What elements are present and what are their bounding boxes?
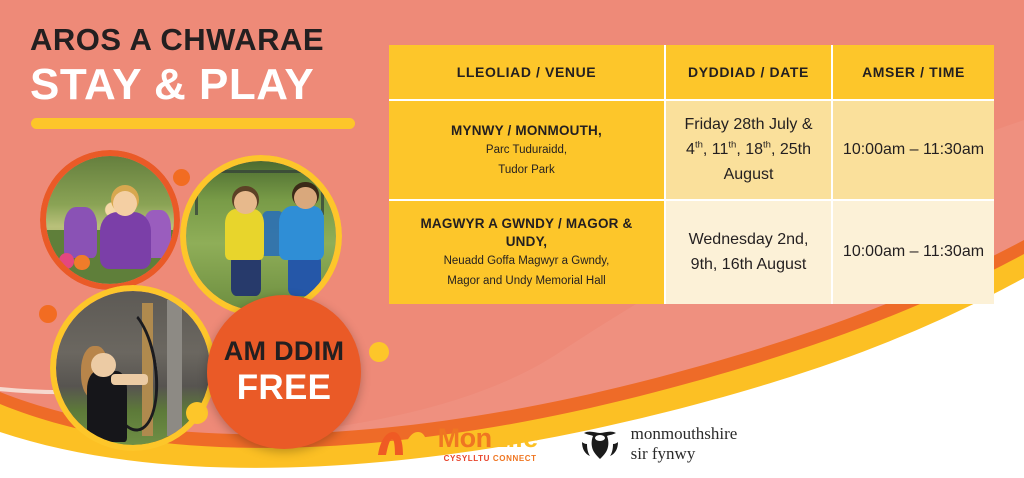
- free-badge-welsh: AM DDIM: [224, 337, 345, 367]
- monmouthshire-wordmark: monmouthshire sir fynwy: [631, 424, 738, 464]
- venue-address-line-1: Neuadd Goffa Magwyr a Gwndy,: [403, 253, 650, 270]
- monlife-tagline-welsh: CYSYLLTU: [444, 454, 493, 463]
- headline-english: STAY & PLAY: [30, 60, 370, 109]
- table-row: MYNWY / MONMOUTH, Parc Tuduraidd, Tudor …: [389, 101, 994, 201]
- monlife-tagline-english: CONNECT: [493, 454, 537, 463]
- decorative-dot: [186, 402, 208, 424]
- poster-canvas: AROS A CHWARAE STAY & PLAY: [0, 0, 1024, 478]
- cell-venue: MYNWY / MONMOUTH, Parc Tuduraidd, Tudor …: [389, 101, 666, 201]
- cell-venue: MAGWYR A GWNDY / MAGOR & UNDY, Neuadd Go…: [389, 201, 666, 303]
- date-line-2: 4th, 11th, 18th, 25th: [686, 141, 811, 158]
- venue-address-line-2: Magor and Undy Memorial Hall: [403, 273, 650, 290]
- monlife-tagline: CYSYLLTU CONNECT: [438, 455, 538, 463]
- photo-prop: [59, 253, 74, 268]
- date-line-3: August: [724, 166, 774, 183]
- schedule-table-head: LLEOLIAD / VENUE DYDDIAD / DATE AMSER / …: [389, 45, 994, 101]
- schedule-table: LLEOLIAD / VENUE DYDDIAD / DATE AMSER / …: [389, 45, 994, 304]
- cell-time: 10:00am – 11:30am: [833, 201, 994, 303]
- decorative-dot: [39, 305, 57, 323]
- free-badge-english: FREE: [237, 369, 332, 407]
- photo-figure: [288, 254, 321, 296]
- column-header-date: DYDDIAD / DATE: [666, 45, 833, 101]
- date-line-2: 9th, 16th August: [691, 256, 807, 273]
- photo-prop: [167, 300, 182, 436]
- photo-figure: [100, 212, 151, 268]
- decorative-dot: [369, 342, 389, 362]
- photo-figure: [113, 191, 137, 217]
- monmouthshire-logo: monmouthshire sir fynwy: [578, 424, 738, 464]
- decorative-dot: [173, 169, 190, 186]
- headline-block: AROS A CHWARAE STAY & PLAY: [30, 22, 370, 109]
- photo-figure: [234, 191, 257, 214]
- monlife-logo: MonLife CYSYLLTU CONNECT: [377, 425, 538, 463]
- column-header-time: AMSER / TIME: [833, 45, 994, 101]
- photo-football-game: [180, 155, 342, 317]
- venue-address-line-2: Tudor Park: [403, 162, 650, 179]
- photo-figure: [111, 374, 148, 385]
- monlife-life: Life: [492, 423, 538, 453]
- headline-welsh: AROS A CHWARAE: [30, 22, 370, 58]
- photo-figure: [64, 207, 97, 258]
- monlife-mark-icon: [377, 429, 429, 459]
- photo-archery-image: [56, 291, 210, 445]
- date-line-1: Wednesday 2nd,: [689, 231, 809, 248]
- photo-football-game-image: [186, 161, 336, 311]
- venue-address-line-1: Parc Tuduraidd,: [403, 142, 650, 159]
- monlife-wordmark: MonLife CYSYLLTU CONNECT: [438, 425, 538, 463]
- cell-date: Friday 28th July & 4th, 11th, 18th, 25th…: [666, 101, 833, 201]
- cell-time: 10:00am – 11:30am: [833, 101, 994, 201]
- photo-figure: [294, 187, 317, 210]
- column-header-venue: LLEOLIAD / VENUE: [389, 45, 666, 101]
- photo-figure: [225, 209, 264, 260]
- monmouthshire-line-2: sir fynwy: [631, 444, 738, 464]
- venue-title: MYNWY / MONMOUTH,: [403, 122, 650, 140]
- headline-rule: [31, 118, 355, 129]
- monlife-mon: Mon: [438, 423, 492, 453]
- photo-figure: [231, 254, 261, 296]
- monmouthshire-line-1: monmouthshire: [631, 424, 738, 444]
- bull-head-icon: [578, 426, 622, 462]
- table-row: MAGWYR A GWNDY / MAGOR & UNDY, Neuadd Go…: [389, 201, 994, 303]
- cell-date: Wednesday 2nd, 9th, 16th August: [666, 201, 833, 303]
- schedule-table-body: MYNWY / MONMOUTH, Parc Tuduraidd, Tudor …: [389, 101, 994, 304]
- photo-prop: [74, 255, 89, 270]
- footer-logos: MonLife CYSYLLTU CONNECT monmouthshire s…: [0, 424, 1024, 464]
- photo-children-playing: [40, 150, 180, 290]
- monlife-name: MonLife: [438, 425, 538, 452]
- table-header-row: LLEOLIAD / VENUE DYDDIAD / DATE AMSER / …: [389, 45, 994, 101]
- date-line-1: Friday 28th July &: [684, 116, 812, 133]
- photo-figure: [279, 206, 324, 260]
- photo-children-playing-image: [46, 156, 174, 284]
- venue-title: MAGWYR A GWNDY / MAGOR & UNDY,: [403, 215, 650, 250]
